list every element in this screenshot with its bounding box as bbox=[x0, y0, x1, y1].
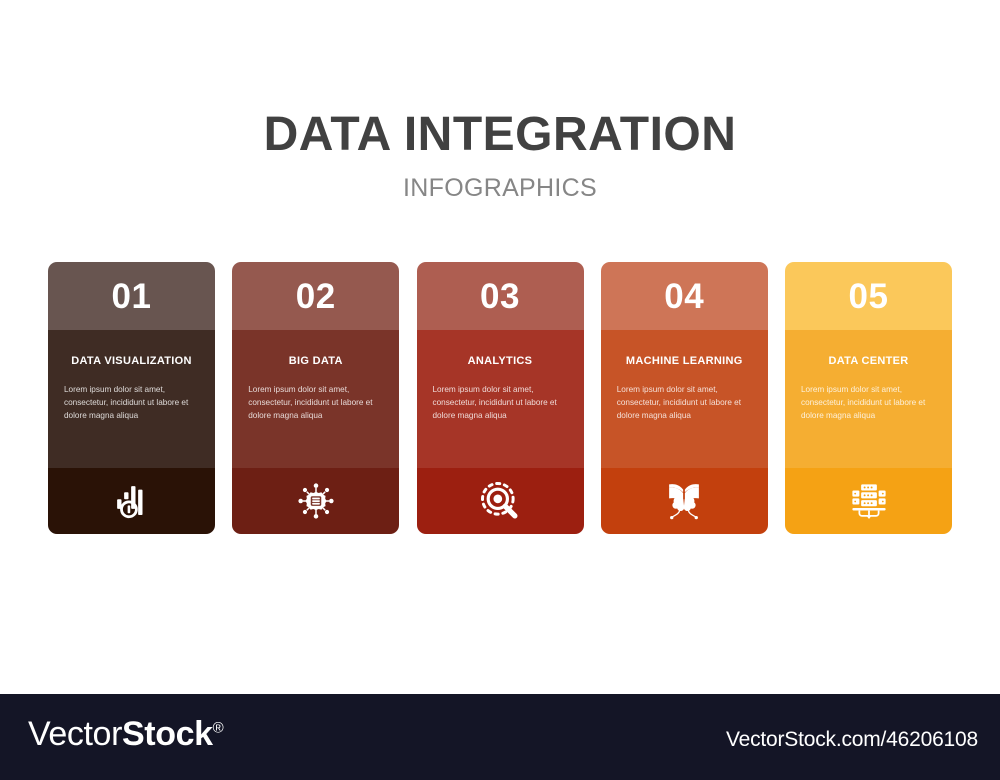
card-icon-band bbox=[48, 468, 215, 534]
card-number: 01 bbox=[112, 279, 152, 314]
card-step-1[interactable]: 01 DATA VISUALIZATION Lorem ipsum dolor … bbox=[48, 262, 215, 534]
card-number: 02 bbox=[296, 279, 336, 314]
bar-chart-icon bbox=[111, 480, 153, 522]
card-icon-band bbox=[417, 468, 584, 534]
logo-text-stock: Stock bbox=[122, 715, 213, 753]
watermark-footer: VectorStock® VectorStock.com/46206108 bbox=[0, 694, 1000, 780]
card-icon-band bbox=[232, 468, 399, 534]
watermark-url: VectorStock.com/46206108 bbox=[726, 728, 978, 752]
page-subtitle: INFOGRAPHICS bbox=[0, 174, 1000, 203]
page-title: DATA INTEGRATION bbox=[0, 110, 1000, 160]
card-number: 04 bbox=[664, 279, 704, 314]
card-icon-band bbox=[785, 468, 952, 534]
header: DATA INTEGRATION INFOGRAPHICS bbox=[0, 110, 1000, 203]
card-icon-band bbox=[601, 468, 768, 534]
gear-network-icon bbox=[295, 480, 337, 522]
card-body-text: Lorem ipsum dolor sit amet, consectetur,… bbox=[62, 383, 201, 423]
logo-text-vector: Vector bbox=[28, 715, 122, 753]
card-number-band: 01 bbox=[48, 262, 215, 330]
card-body-text: Lorem ipsum dolor sit amet, consectetur,… bbox=[799, 383, 938, 423]
magnifier-icon bbox=[479, 480, 521, 522]
card-text-band: MACHINE LEARNING Lorem ipsum dolor sit a… bbox=[601, 330, 768, 468]
card-title: ANALYTICS bbox=[468, 354, 533, 369]
card-text-band: ANALYTICS Lorem ipsum dolor sit amet, co… bbox=[417, 330, 584, 468]
card-title: MACHINE LEARNING bbox=[626, 354, 743, 369]
card-text-band: BIG DATA Lorem ipsum dolor sit amet, con… bbox=[232, 330, 399, 468]
card-step-4[interactable]: 04 MACHINE LEARNING Lorem ipsum dolor si… bbox=[601, 262, 768, 534]
card-title: DATA VISUALIZATION bbox=[71, 354, 191, 369]
card-body-text: Lorem ipsum dolor sit amet, consectetur,… bbox=[246, 383, 385, 423]
card-text-band: DATA CENTER Lorem ipsum dolor sit amet, … bbox=[785, 330, 952, 468]
card-step-5[interactable]: 05 DATA CENTER Lorem ipsum dolor sit ame… bbox=[785, 262, 952, 534]
infographic-canvas: DATA INTEGRATION INFOGRAPHICS 01 DATA VI… bbox=[0, 0, 1000, 694]
card-number: 05 bbox=[849, 279, 889, 314]
vectorstock-logo: VectorStock® bbox=[28, 715, 223, 754]
brain-book-icon bbox=[663, 480, 705, 522]
card-title: BIG DATA bbox=[289, 354, 343, 369]
card-number-band: 02 bbox=[232, 262, 399, 330]
card-body-text: Lorem ipsum dolor sit amet, consectetur,… bbox=[431, 383, 570, 423]
card-title: DATA CENTER bbox=[828, 354, 908, 369]
card-step-3[interactable]: 03 ANALYTICS Lorem ipsum dolor sit amet,… bbox=[417, 262, 584, 534]
card-number-band: 05 bbox=[785, 262, 952, 330]
card-number-band: 03 bbox=[417, 262, 584, 330]
card-number: 03 bbox=[480, 279, 520, 314]
card-body-text: Lorem ipsum dolor sit amet, consectetur,… bbox=[615, 383, 754, 423]
cards-row: 01 DATA VISUALIZATION Lorem ipsum dolor … bbox=[48, 262, 952, 534]
card-text-band: DATA VISUALIZATION Lorem ipsum dolor sit… bbox=[48, 330, 215, 468]
registered-mark: ® bbox=[213, 720, 224, 737]
server-rack-icon bbox=[848, 480, 890, 522]
card-step-2[interactable]: 02 BIG DATA Lorem ipsum dolor sit amet, … bbox=[232, 262, 399, 534]
card-number-band: 04 bbox=[601, 262, 768, 330]
